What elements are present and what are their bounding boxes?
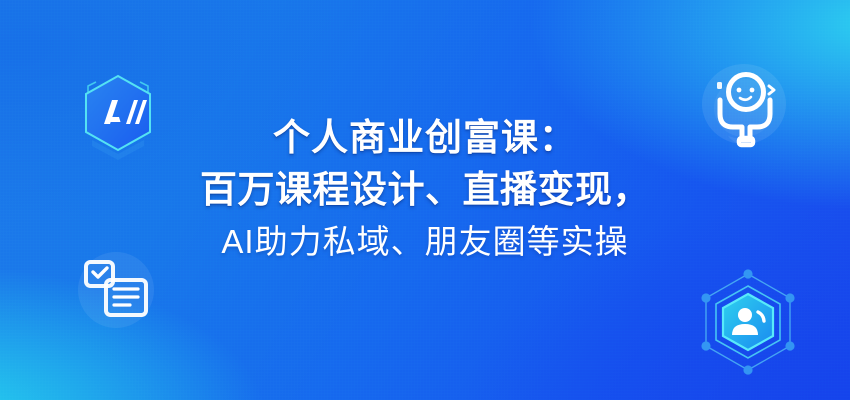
headline-line-2: 百万课程设计、直播变现， (40, 164, 810, 216)
headline-line-3: AI助力私域、朋友圈等实操 (40, 216, 810, 268)
headline-line-1: 个人商业创富课： (40, 112, 810, 164)
course-promo-banner: 个人商业创富课： 百万课程设计、直播变现， AI助力私域、朋友圈等实操 (0, 0, 850, 400)
headline-block: 个人商业创富课： 百万课程设计、直播变现， AI助力私域、朋友圈等实操 (0, 112, 850, 268)
user-network-icon (690, 262, 826, 396)
